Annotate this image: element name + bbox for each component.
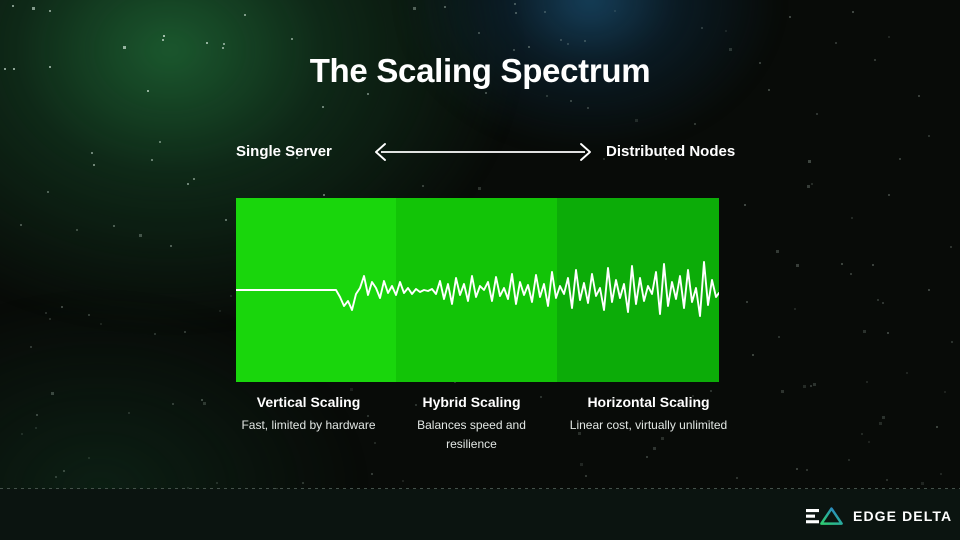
spectrum-axis: Single Server Distributed Nodes [236, 139, 764, 165]
legend-item-title: Hybrid Scaling [399, 392, 544, 412]
legend-item-title: Vertical Scaling [236, 392, 381, 412]
chart-legend: Vertical ScalingFast, limited by hardwar… [236, 392, 726, 462]
double-headed-arrow-icon [372, 139, 594, 165]
slide-canvas: The Scaling Spectrum Single Server Distr… [0, 0, 960, 540]
legend-item-1: Vertical ScalingFast, limited by hardwar… [236, 392, 381, 435]
scaling-spectrum-chart [236, 198, 719, 382]
legend-item-description: Linear cost, virtually unlimited [561, 416, 736, 435]
legend-item-3: Horizontal ScalingLinear cost, virtually… [561, 392, 736, 435]
brand-logo: EDGE DELTA [806, 505, 952, 527]
legend-item-description: Balances speed and resilience [399, 416, 544, 454]
axis-label-left: Single Server [236, 139, 332, 165]
legend-item-title: Horizontal Scaling [561, 392, 736, 412]
waveform-series [236, 198, 719, 382]
axis-label-right: Distributed Nodes [606, 139, 735, 165]
legend-item-description: Fast, limited by hardware [236, 416, 381, 435]
brand-name: EDGE DELTA [853, 508, 952, 524]
legend-item-2: Hybrid ScalingBalances speed and resilie… [399, 392, 544, 454]
page-title: The Scaling Spectrum [0, 52, 960, 90]
edge-delta-logo-icon [806, 506, 844, 526]
